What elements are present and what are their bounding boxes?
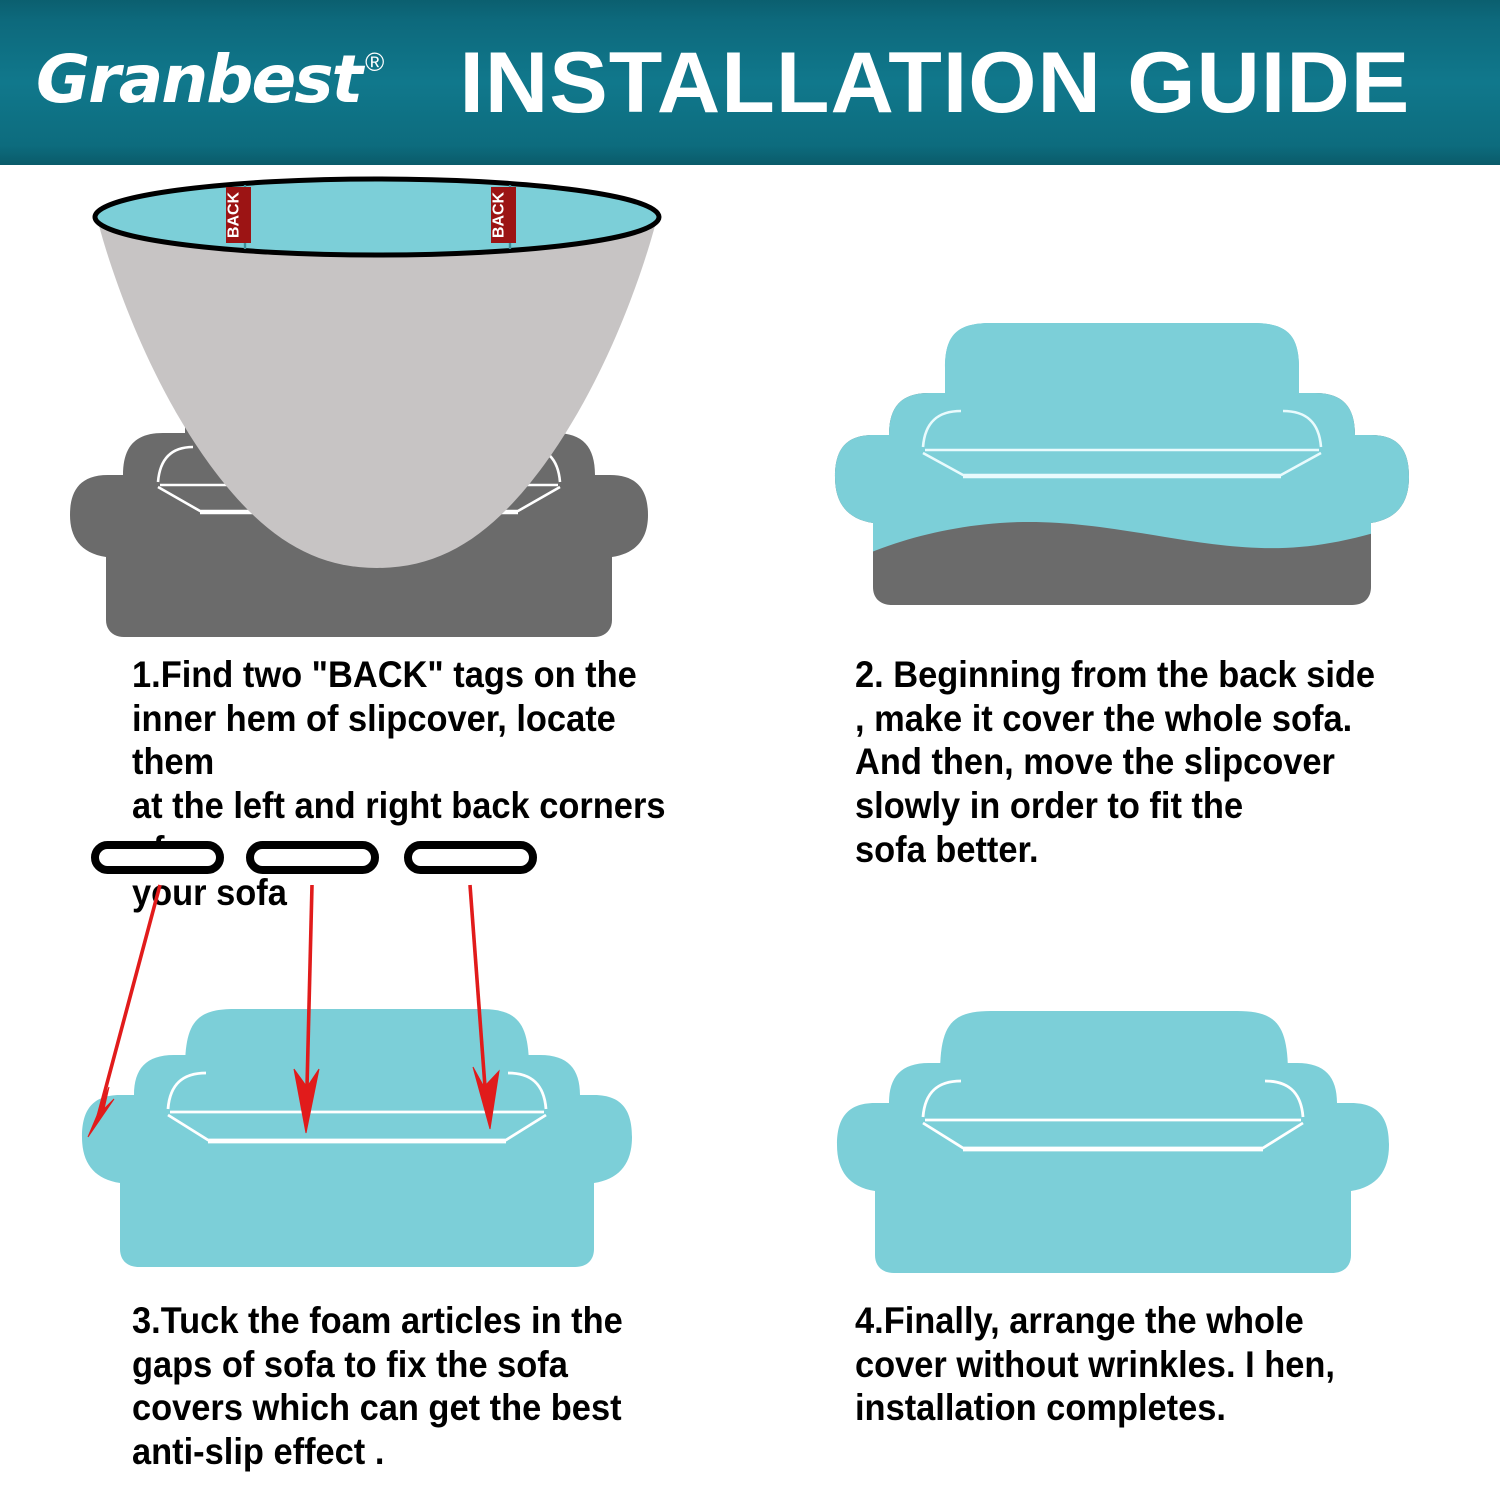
step-4-figure	[755, 837, 1490, 1307]
back-tag-left-label: BACK	[226, 191, 243, 238]
teal-sofa-complete	[837, 1011, 1389, 1273]
brand-logo: Granbest ®	[36, 47, 384, 113]
registered-trademark-icon: ®	[365, 49, 384, 75]
step-3: 3.Tuck the foam articles in the gaps of …	[10, 837, 745, 1497]
foam-article-1	[95, 845, 220, 870]
back-tag-right: BACK	[491, 187, 517, 243]
back-tag-left: BACK	[226, 187, 252, 243]
foam-article-2	[250, 845, 375, 870]
slipcover-opening	[95, 179, 659, 255]
brand-wordmark: Granbest	[36, 47, 361, 113]
step-4-caption: 4.Finally, arrange the whole cover witho…	[855, 1299, 1422, 1430]
step-3-figure	[10, 837, 745, 1307]
teal-slipcover-partial	[815, 275, 1435, 569]
page-title: INSTALLATION GUIDE	[394, 40, 1477, 126]
step-2: 2. Beginning from the back side , make i…	[755, 175, 1490, 835]
header-band: Granbest ® INSTALLATION GUIDE	[0, 0, 1500, 165]
step-4: 4.Finally, arrange the whole cover witho…	[755, 837, 1490, 1497]
steps-grid: BACK BACK 1.Find two "BACK" tags on the …	[0, 165, 1500, 1500]
step-3-caption: 3.Tuck the foam articles in the gaps of …	[132, 1299, 699, 1474]
teal-sofa-shape	[82, 1009, 632, 1267]
back-tag-right-label: BACK	[491, 191, 508, 238]
teal-back-cushion	[945, 323, 1299, 397]
foam-article-3	[408, 845, 533, 870]
step-1: BACK BACK 1.Find two "BACK" tags on the …	[10, 175, 745, 835]
step-2-figure	[755, 175, 1490, 645]
step-1-figure: BACK BACK	[10, 175, 745, 645]
